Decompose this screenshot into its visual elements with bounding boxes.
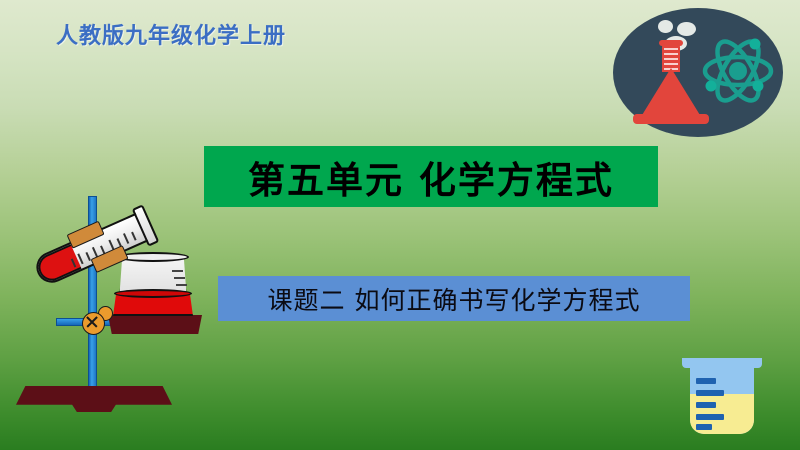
atom-icon <box>701 34 775 108</box>
stand-base <box>16 386 172 412</box>
stand-clamp-knob <box>82 312 105 335</box>
flask-base <box>633 114 709 124</box>
bubble-icon <box>658 20 673 33</box>
presentation-slide: 人教版九年级化学上册 第五单元 化学方程式 课题二 如何正确 <box>0 0 800 450</box>
bubble-icon <box>677 22 696 36</box>
lesson-subtitle-banner: 课题二 如何正确书写化学方程式 <box>218 276 690 321</box>
beaker-graduated-icon <box>676 352 768 438</box>
flask-body <box>639 68 703 120</box>
beaker-tick <box>174 277 185 279</box>
beaker-tick <box>176 284 187 286</box>
lab-ring-stand-icon <box>0 190 240 425</box>
stand-platform <box>108 315 202 334</box>
lesson-subtitle: 课题二 如何正确书写化学方程式 <box>268 281 641 317</box>
page-title: 第五单元 化学方程式 <box>248 150 614 204</box>
chemistry-flask-atom-icon <box>613 8 783 137</box>
course-label: 人教版九年级化学上册 <box>56 18 286 50</box>
beaker-tick <box>172 270 183 272</box>
beaker-liquid-surface <box>114 289 192 298</box>
unit-title-banner: 第五单元 化学方程式 <box>204 146 658 207</box>
